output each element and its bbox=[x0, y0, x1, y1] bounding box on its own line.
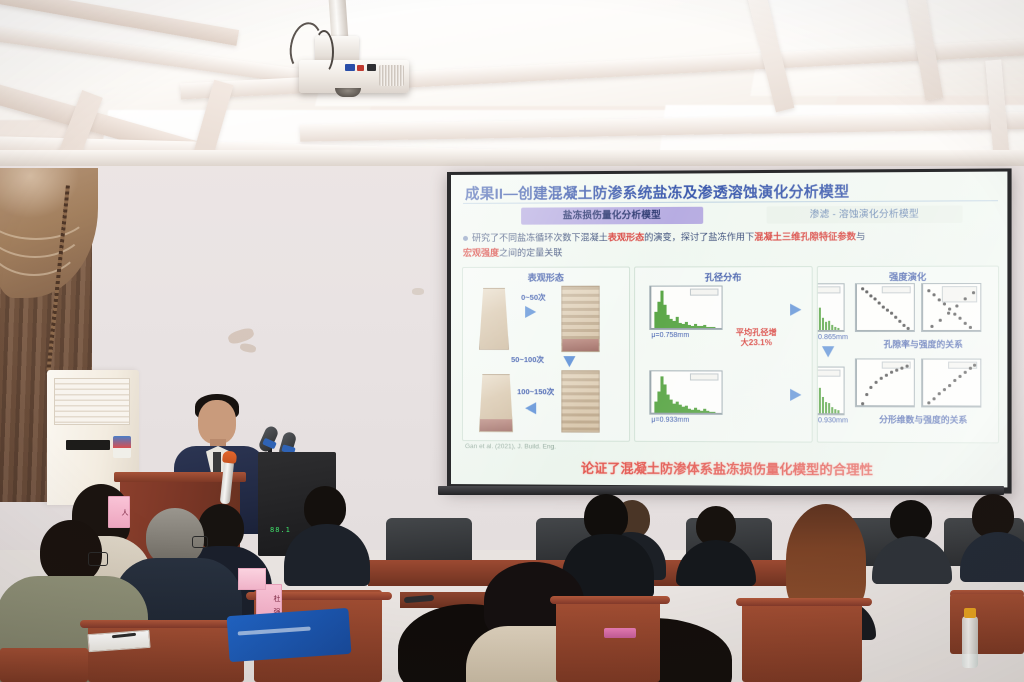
chart-x-axis bbox=[856, 330, 914, 331]
pore-mu-label-top-right: μ=0.865mm bbox=[817, 334, 848, 341]
bullet-highlight-2: 混凝土三维孔隙特征参数 bbox=[754, 231, 856, 242]
chart-y-axis bbox=[650, 371, 651, 413]
chart-legend bbox=[690, 289, 719, 296]
wooden-chair[interactable] bbox=[556, 598, 660, 682]
air-conditioner-badge bbox=[113, 436, 131, 458]
chart-legend bbox=[690, 373, 719, 380]
bullet-tail-2: 之间的定量关联 bbox=[499, 248, 562, 258]
eyeglasses bbox=[192, 536, 208, 548]
panel-morphology-title: 表观形态 bbox=[463, 271, 629, 284]
chart-x-axis bbox=[817, 330, 844, 331]
desk-item bbox=[604, 628, 636, 638]
pore-mu-label-bottom-right: μ=0.930mm bbox=[817, 417, 848, 424]
step-label-100-150: 100~150次 bbox=[517, 386, 554, 397]
projector-cable bbox=[314, 30, 334, 74]
pore-increase-line2: 大23.1% bbox=[741, 338, 772, 347]
chart-y-axis bbox=[922, 284, 923, 331]
wall-mark bbox=[412, 288, 424, 295]
audience-member bbox=[872, 500, 952, 580]
bullet-lead: 研究了不同盐冻循环次数下混凝土 bbox=[472, 232, 608, 243]
panel-pore-title: 孔径分布 bbox=[635, 270, 812, 284]
slide-panels: 表观形态 0~50次 50~100次 100~150次 bbox=[462, 266, 999, 444]
pore-mu-label-bottom-left: μ=0.933mm bbox=[651, 417, 689, 424]
panel-strength-title: 强度演化 bbox=[818, 270, 998, 284]
chair-armrest bbox=[736, 598, 872, 606]
chart-y-axis bbox=[922, 360, 923, 407]
audience-member bbox=[960, 494, 1024, 580]
wooden-chair[interactable] bbox=[0, 648, 88, 682]
arrow-down-icon bbox=[563, 356, 575, 367]
air-conditioner-grille bbox=[54, 378, 130, 425]
conference-chair[interactable] bbox=[386, 518, 472, 566]
eyeglasses bbox=[88, 552, 108, 566]
scatter-chart-porosity-b bbox=[921, 283, 981, 332]
pore-mu-label-top-left: μ=0.758mm bbox=[651, 332, 689, 339]
microphone-head bbox=[222, 450, 237, 463]
specimen-base bbox=[480, 419, 512, 431]
panel-pore-distribution: 孔径分布 bbox=[634, 266, 813, 443]
chart-y-axis bbox=[856, 284, 857, 331]
air-conditioner-display bbox=[66, 440, 110, 450]
chart-legend bbox=[882, 286, 911, 293]
specimen-photo bbox=[561, 370, 599, 432]
name-card-blank bbox=[238, 568, 266, 590]
caption-porosity-strength: 孔隙率与强度的关系 bbox=[849, 338, 998, 350]
screen-bottom-bar bbox=[438, 486, 1004, 495]
projector-connector bbox=[367, 64, 376, 71]
audience-shoulders bbox=[676, 540, 756, 586]
step-label-0-50: 0~50次 bbox=[521, 292, 546, 303]
slide-citation: Gan et al. (2021), J. Build. Eng. bbox=[465, 443, 556, 450]
projector-connector bbox=[357, 65, 364, 71]
audience-shoulders bbox=[960, 532, 1024, 582]
chart-y-axis bbox=[856, 359, 857, 406]
specimen-base bbox=[562, 339, 598, 351]
name-card: 人 bbox=[108, 496, 130, 528]
projector-vent bbox=[379, 65, 404, 86]
projection-screen-frame: 成果II—创建混凝土防渗系统盐冻及渗透溶蚀演化分析模型 盐冻损伤量化分析模型 渗… bbox=[447, 168, 1012, 493]
bottle-cap bbox=[964, 608, 976, 618]
bullet-highlight-1: 表观形态 bbox=[608, 232, 644, 242]
audience-member bbox=[288, 486, 364, 582]
arrow-right-icon bbox=[790, 389, 801, 401]
step-label-50-100: 50~100次 bbox=[511, 354, 544, 365]
bullet-mid: 的演变，探讨了盐冻作用下 bbox=[644, 232, 754, 243]
audience-shoulders bbox=[284, 524, 370, 586]
chair-armrest bbox=[550, 596, 670, 604]
specimen-photo bbox=[479, 374, 513, 432]
histogram-chart bbox=[649, 370, 722, 415]
water-bottle[interactable] bbox=[962, 616, 978, 668]
arrow-left-icon bbox=[525, 402, 536, 414]
slide-tab-active[interactable]: 盐冻损伤量化分析模型 bbox=[521, 207, 703, 225]
audience-member bbox=[676, 506, 756, 580]
projector-connector bbox=[345, 64, 355, 71]
chart-legend bbox=[817, 286, 841, 293]
scatter-chart-fractal-a bbox=[855, 358, 915, 407]
pore-increase-label: 平均孔径增 大23.1% bbox=[725, 328, 788, 348]
audience-shoulders bbox=[872, 536, 952, 584]
histogram-chart bbox=[817, 367, 845, 416]
histogram-chart bbox=[817, 283, 845, 332]
bullet-tail: 与 bbox=[856, 231, 865, 241]
presenter-head bbox=[198, 400, 236, 444]
specimen-photo bbox=[479, 288, 509, 350]
pore-increase-line1: 平均孔径增 bbox=[736, 328, 777, 337]
histogram-chart bbox=[649, 286, 722, 330]
slide-conclusion: 论证了混凝土防渗体系盐冻损伤量化模型的合理性 bbox=[451, 457, 1007, 479]
panel-strength-evolution: 强度演化 bbox=[817, 266, 999, 444]
arrow-right-icon bbox=[790, 304, 801, 316]
arrow-down-icon bbox=[822, 346, 834, 357]
chart-x-axis bbox=[856, 405, 914, 406]
slide-tab-row: 盐冻损伤量化分析模型 渗滤 - 溶蚀演化分析模型 bbox=[463, 205, 998, 226]
scatter-chart-porosity-a bbox=[855, 283, 915, 332]
slide-bullet: 研究了不同盐冻循环次数下混凝土表观形态的演变，探讨了盐冻作用下混凝土三维孔隙特征… bbox=[463, 229, 998, 261]
conference-room-photo: 成果II—创建混凝土防渗系统盐冻及渗透溶蚀演化分析模型 盐冻损伤量化分析模型 渗… bbox=[0, 0, 1024, 682]
caption-fractal-strength: 分形维数与强度的关系 bbox=[849, 413, 998, 426]
wall-cornice bbox=[0, 150, 1024, 166]
slide-tab-inactive[interactable]: 渗滤 - 溶蚀演化分析模型 bbox=[767, 205, 963, 223]
panel-morphology: 表观形态 0~50次 50~100次 100~150次 bbox=[462, 267, 630, 442]
chart-legend bbox=[817, 370, 841, 377]
bullet-dot-icon bbox=[463, 236, 468, 241]
arrow-right-icon bbox=[525, 306, 536, 318]
specimen-photo bbox=[561, 286, 599, 352]
chart-x-axis bbox=[922, 330, 980, 331]
projection-screen: 成果II—创建混凝土防渗系统盐冻及渗透溶蚀演化分析模型 盐冻损伤量化分析模型 渗… bbox=[451, 172, 1007, 488]
chart-x-axis bbox=[817, 413, 844, 414]
bullet-highlight-3: 宏观强度 bbox=[463, 248, 499, 258]
chart-x-axis bbox=[922, 405, 980, 406]
wooden-chair[interactable] bbox=[742, 600, 862, 682]
chart-y-axis bbox=[650, 287, 651, 329]
scatter-chart-fractal-b bbox=[921, 359, 981, 408]
chart-legend bbox=[942, 286, 977, 302]
chart-x-axis bbox=[650, 328, 721, 329]
blue-tote-bag[interactable] bbox=[227, 608, 352, 662]
